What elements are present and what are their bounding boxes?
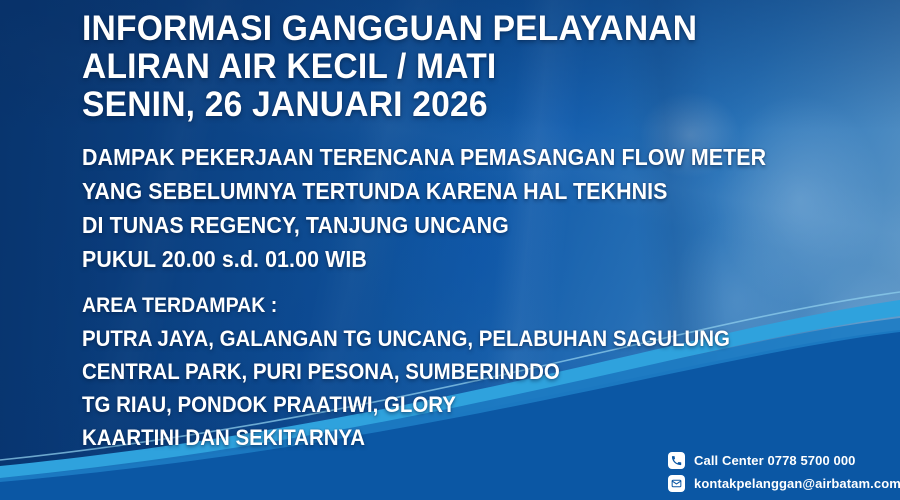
affected-area-line-3: TG RIAU, PONDOK PRAATIWI, GLORY bbox=[82, 388, 817, 421]
body-block: DAMPAK PEKERJAAN TERENCANA PEMASANGAN FL… bbox=[82, 140, 872, 276]
affected-area-line-2: CENTRAL PARK, PURI PESONA, SUMBERINDDO bbox=[82, 355, 817, 388]
headline-line-3: SENIN, 26 JANUARI 2026 bbox=[82, 86, 840, 124]
affected-area-heading: AREA TERDAMPAK : bbox=[82, 289, 817, 322]
body-line-2: YANG SEBELUMNYA TERTUNDA KARENA HAL TEKH… bbox=[82, 174, 817, 208]
headline-block: INFORMASI GANGGUAN PELAYANAN ALIRAN AIR … bbox=[82, 10, 872, 124]
body-line-1: DAMPAK PEKERJAAN TERENCANA PEMASANGAN FL… bbox=[82, 140, 817, 174]
contact-row-email[interactable]: kontakpelanggan@airbatam.com bbox=[668, 475, 900, 492]
body-line-3: DI TUNAS REGENCY, TANJUNG UNCANG bbox=[82, 208, 817, 242]
body-line-4-time: PUKUL 20.00 s.d. 01.00 WIB bbox=[82, 242, 817, 276]
contact-row-phone[interactable]: Call Center 0778 5700 000 bbox=[668, 452, 900, 469]
phone-icon bbox=[668, 452, 685, 469]
poster-canvas: INFORMASI GANGGUAN PELAYANAN ALIRAN AIR … bbox=[0, 0, 900, 500]
affected-area-line-4: KAARTINI DAN SEKITARNYA bbox=[82, 421, 817, 454]
poster-content: INFORMASI GANGGUAN PELAYANAN ALIRAN AIR … bbox=[82, 10, 872, 454]
call-center-text: Call Center 0778 5700 000 bbox=[694, 453, 856, 468]
contact-footer: Call Center 0778 5700 000 kontakpelangga… bbox=[668, 452, 900, 492]
affected-area-block: AREA TERDAMPAK : PUTRA JAYA, GALANGAN TG… bbox=[82, 289, 872, 454]
affected-area-line-1: PUTRA JAYA, GALANGAN TG UNCANG, PELABUHA… bbox=[82, 322, 817, 355]
headline-line-1: INFORMASI GANGGUAN PELAYANAN bbox=[82, 10, 840, 48]
email-text: kontakpelanggan@airbatam.com bbox=[694, 476, 900, 491]
envelope-icon bbox=[668, 475, 685, 492]
headline-line-2: ALIRAN AIR KECIL / MATI bbox=[82, 48, 840, 86]
